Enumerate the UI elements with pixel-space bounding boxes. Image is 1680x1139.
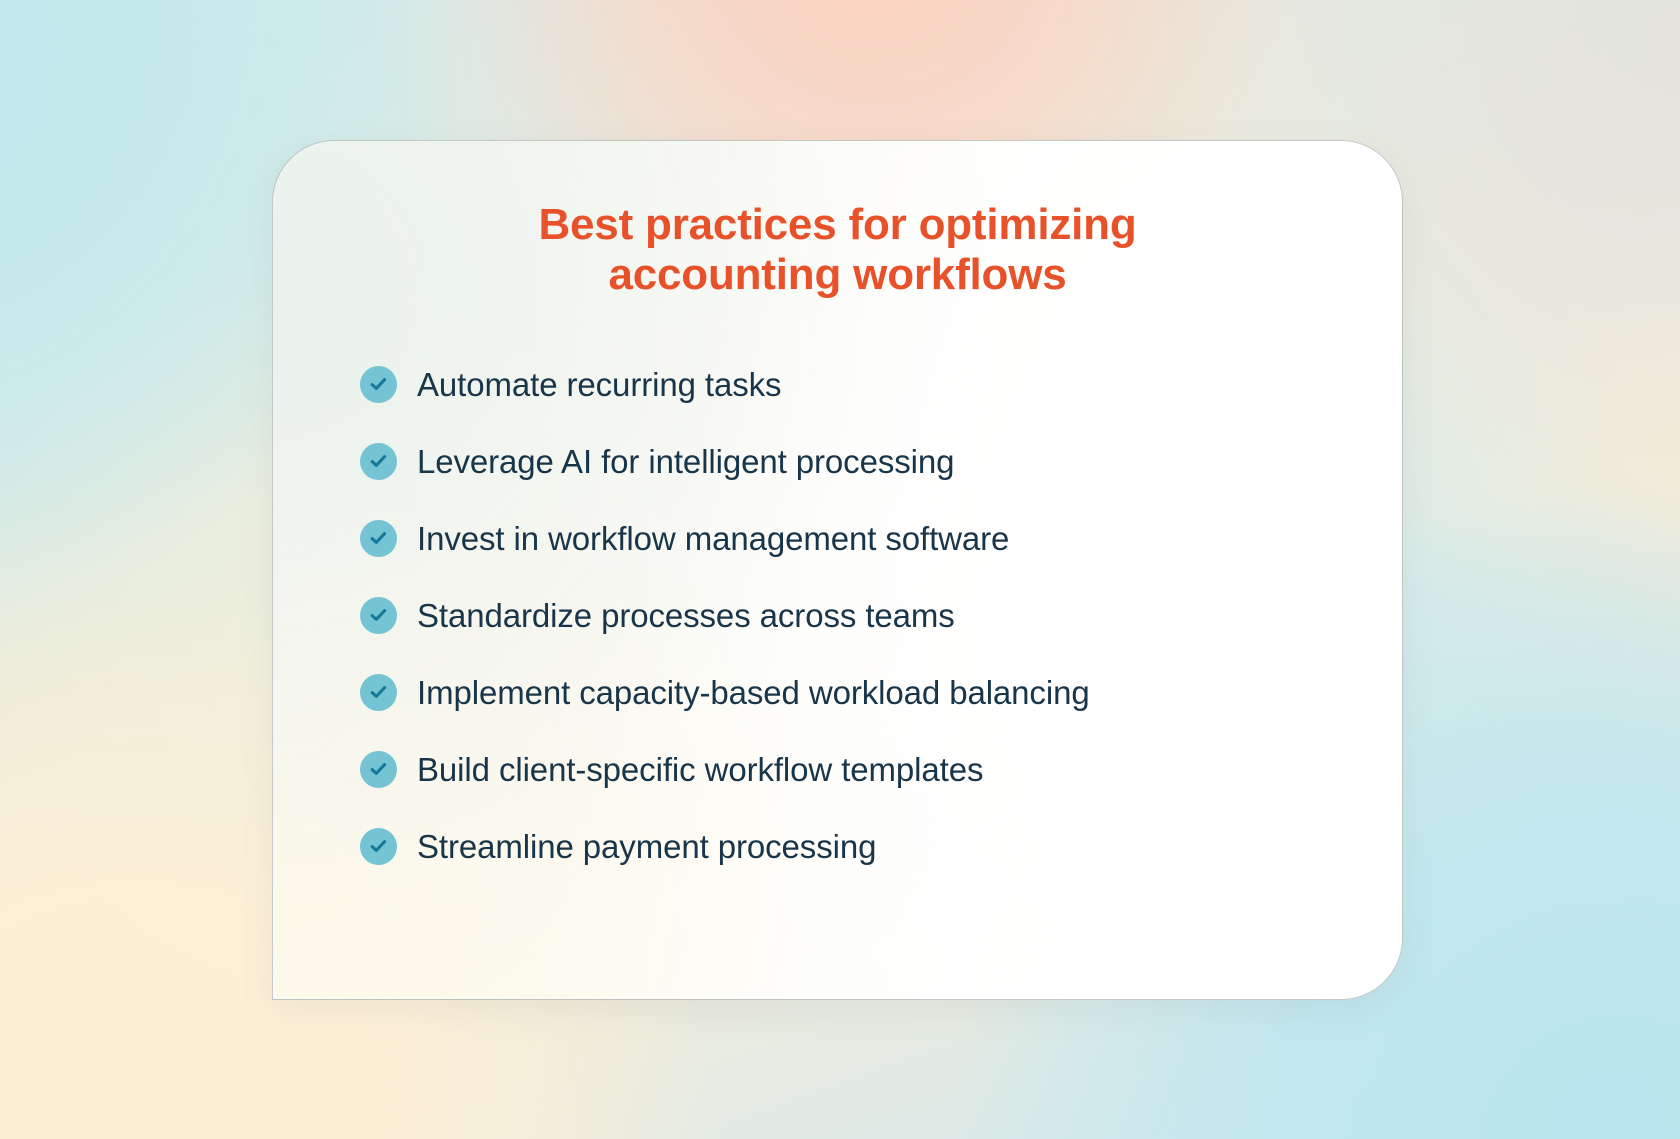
list-item-label: Streamline payment processing xyxy=(417,827,876,867)
check-circle-icon xyxy=(360,828,397,865)
best-practices-list: Automate recurring tasks Leverage AI for… xyxy=(273,299,1402,885)
list-item: Implement capacity-based workload balanc… xyxy=(360,654,1402,731)
list-item: Streamline payment processing xyxy=(360,808,1402,885)
check-circle-icon xyxy=(360,443,397,480)
check-circle-icon xyxy=(360,597,397,634)
list-item-label: Build client-specific workflow templates xyxy=(417,750,983,790)
list-item-label: Automate recurring tasks xyxy=(417,365,781,405)
check-circle-icon xyxy=(360,674,397,711)
list-item: Standardize processes across teams xyxy=(360,577,1402,654)
list-item-label: Implement capacity-based workload balanc… xyxy=(417,673,1090,713)
list-item: Build client-specific workflow templates xyxy=(360,731,1402,808)
list-item: Leverage AI for intelligent processing xyxy=(360,423,1402,500)
page-title: Best practices for optimizing accounting… xyxy=(273,141,1402,299)
list-item: Invest in workflow management software xyxy=(360,500,1402,577)
list-item-label: Standardize processes across teams xyxy=(417,596,955,636)
check-circle-icon xyxy=(360,520,397,557)
check-circle-icon xyxy=(360,751,397,788)
best-practices-card: Best practices for optimizing accounting… xyxy=(272,140,1403,1000)
list-item: Automate recurring tasks xyxy=(360,346,1402,423)
check-circle-icon xyxy=(360,366,397,403)
list-item-label: Leverage AI for intelligent processing xyxy=(417,442,954,482)
list-item-label: Invest in workflow management software xyxy=(417,519,1009,559)
